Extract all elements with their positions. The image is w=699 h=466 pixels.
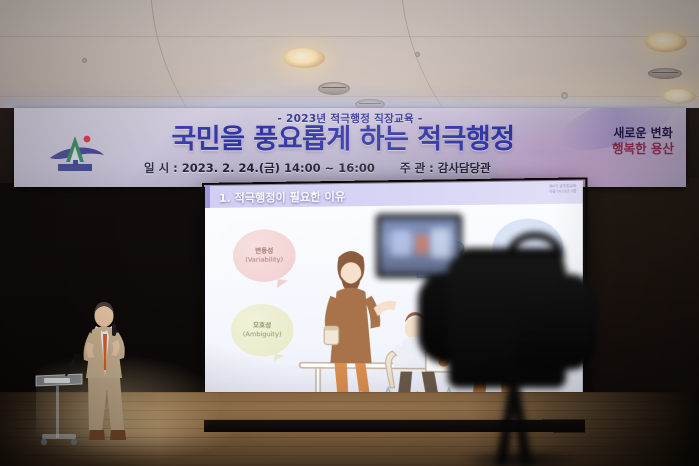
sprinkler-icon	[82, 58, 87, 63]
lcd-preview-shape	[391, 230, 411, 256]
ceiling	[0, 0, 699, 118]
slide-title: 1. 적극행정이 필요한 이유	[219, 188, 345, 206]
banner-datetime: 일 시 : 2023. 2. 24.(금) 14:00 ~ 16:00	[144, 160, 375, 176]
downlight-icon	[283, 48, 325, 68]
slide-corner-note-line2: 서울 2023년 2월	[549, 189, 577, 194]
camera-lens-barrel	[516, 274, 596, 370]
photo-scene: - 2023년 적극행정 직장교육 - 국민을 풍요롭게 하는 적극행정 일 시…	[0, 0, 699, 466]
camera-lcd-preview	[380, 218, 458, 274]
bubble-label-en: (Ambiguity)	[243, 330, 282, 339]
slide-bubble-ambiguity: 모호성 (Ambiguity)	[231, 304, 294, 357]
bubble-label-ko: 변동성	[255, 247, 273, 256]
ceiling-seam	[0, 36, 699, 37]
yongsan-gu-emblem-icon	[44, 128, 106, 174]
banner-slogan-line1: 새로운 변화	[612, 126, 674, 141]
banner-title: 국민을 풍요롭게 하는 적극행정	[98, 124, 588, 156]
downlight-icon	[645, 32, 687, 52]
slide-corner-note: 제4기 공무원교육 서울 2023년 2월	[549, 184, 577, 194]
event-banner: - 2023년 적극행정 직장교육 - 국민을 풍요롭게 하는 적극행정 일 시…	[14, 108, 686, 187]
presenter	[76, 300, 132, 446]
slide-header-accent	[205, 186, 210, 208]
slide-header: 1. 적극행정이 필요한 이유	[205, 181, 583, 208]
banner-host: 주 관 : 감사담당관	[400, 160, 491, 176]
lcd-preview-shape	[416, 235, 428, 254]
banner-slogan-line2: 행복한 용산	[612, 141, 674, 156]
sprinkler-icon	[415, 52, 420, 57]
video-camera	[366, 214, 614, 466]
camera-tripod-base	[458, 452, 586, 466]
bubble-label-en: (Variability)	[245, 256, 283, 265]
banner-slogan: 새로운 변화 행복한 용산	[612, 126, 674, 156]
bubble-label-ko: 모호성	[253, 321, 271, 330]
slide-bubble-variability: 변동성 (Variability)	[233, 229, 296, 282]
gooseneck-microphone-icon	[66, 358, 76, 376]
air-vent-icon	[648, 68, 682, 79]
lcd-preview-shape	[431, 228, 450, 258]
